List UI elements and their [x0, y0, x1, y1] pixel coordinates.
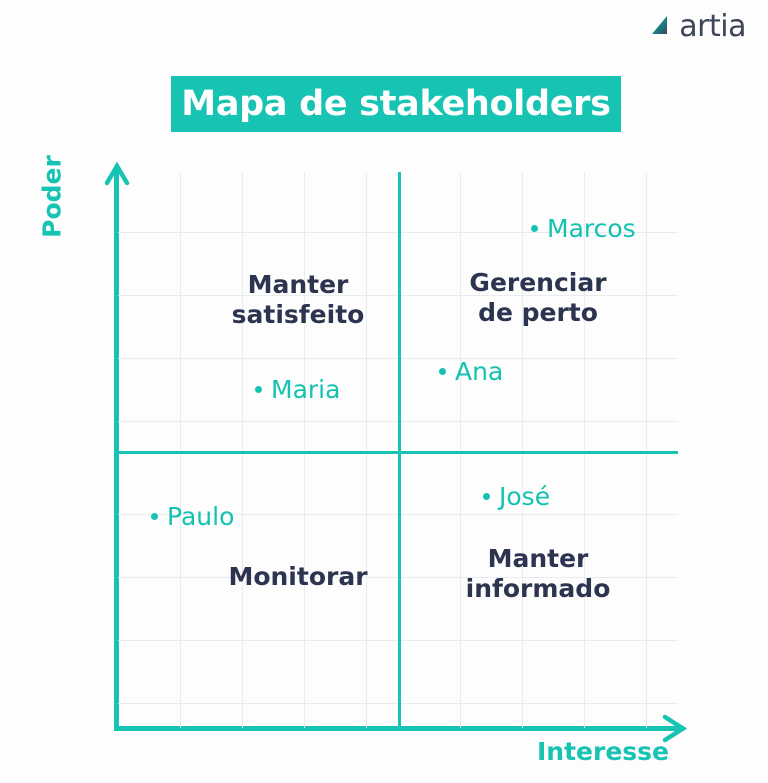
quadrant-label-gerenciar-de-perto: Gerenciar de perto	[443, 268, 633, 327]
quadrant-label-manter-informado: Manter informado	[443, 544, 633, 603]
stakeholder-name: Ana	[455, 359, 503, 384]
gridline-vertical	[522, 172, 523, 728]
stakeholder-dot-icon	[439, 368, 446, 375]
brand-name: artia	[679, 12, 746, 42]
stakeholder-name: Maria	[271, 377, 340, 402]
brand-logo: artia	[649, 12, 746, 42]
stakeholder-name: José	[499, 484, 550, 509]
quadrant-divider-horizontal	[118, 451, 678, 454]
stakeholder-dot-icon	[151, 513, 158, 520]
stakeholder-name: Paulo	[167, 504, 234, 529]
y-axis-label: Poder	[38, 137, 67, 257]
stakeholder-dot-icon	[255, 386, 262, 393]
stakeholder-name: Marcos	[547, 216, 636, 241]
quadrant-label-manter-satisfeito: Manter satisfeito	[208, 270, 388, 329]
gridline-vertical	[646, 172, 647, 728]
gridline-vertical	[366, 172, 367, 728]
stakeholder-matrix: Manter satisfeito Gerenciar de perto Mon…	[118, 172, 678, 728]
page-title-banner: Mapa de stakeholders	[171, 76, 621, 132]
stakeholder-point[interactable]: Maria	[255, 377, 340, 402]
stakeholder-dot-icon	[483, 493, 490, 500]
stakeholder-point[interactable]: Marcos	[531, 216, 636, 241]
artia-triangle-logo-icon	[649, 12, 675, 42]
stakeholder-point[interactable]: Ana	[439, 359, 503, 384]
stakeholder-point[interactable]: Paulo	[151, 504, 234, 529]
gridline-vertical	[304, 172, 305, 728]
gridline-vertical	[242, 172, 243, 728]
x-axis-label: Interesse	[537, 737, 669, 766]
gridline-vertical	[180, 172, 181, 728]
stakeholder-dot-icon	[531, 225, 538, 232]
gridline-vertical	[584, 172, 585, 728]
gridline-vertical	[460, 172, 461, 728]
page-title: Mapa de stakeholders	[181, 87, 610, 122]
quadrant-divider-vertical	[398, 172, 401, 728]
stakeholder-point[interactable]: José	[483, 484, 550, 509]
quadrant-label-monitorar: Monitorar	[208, 562, 388, 592]
